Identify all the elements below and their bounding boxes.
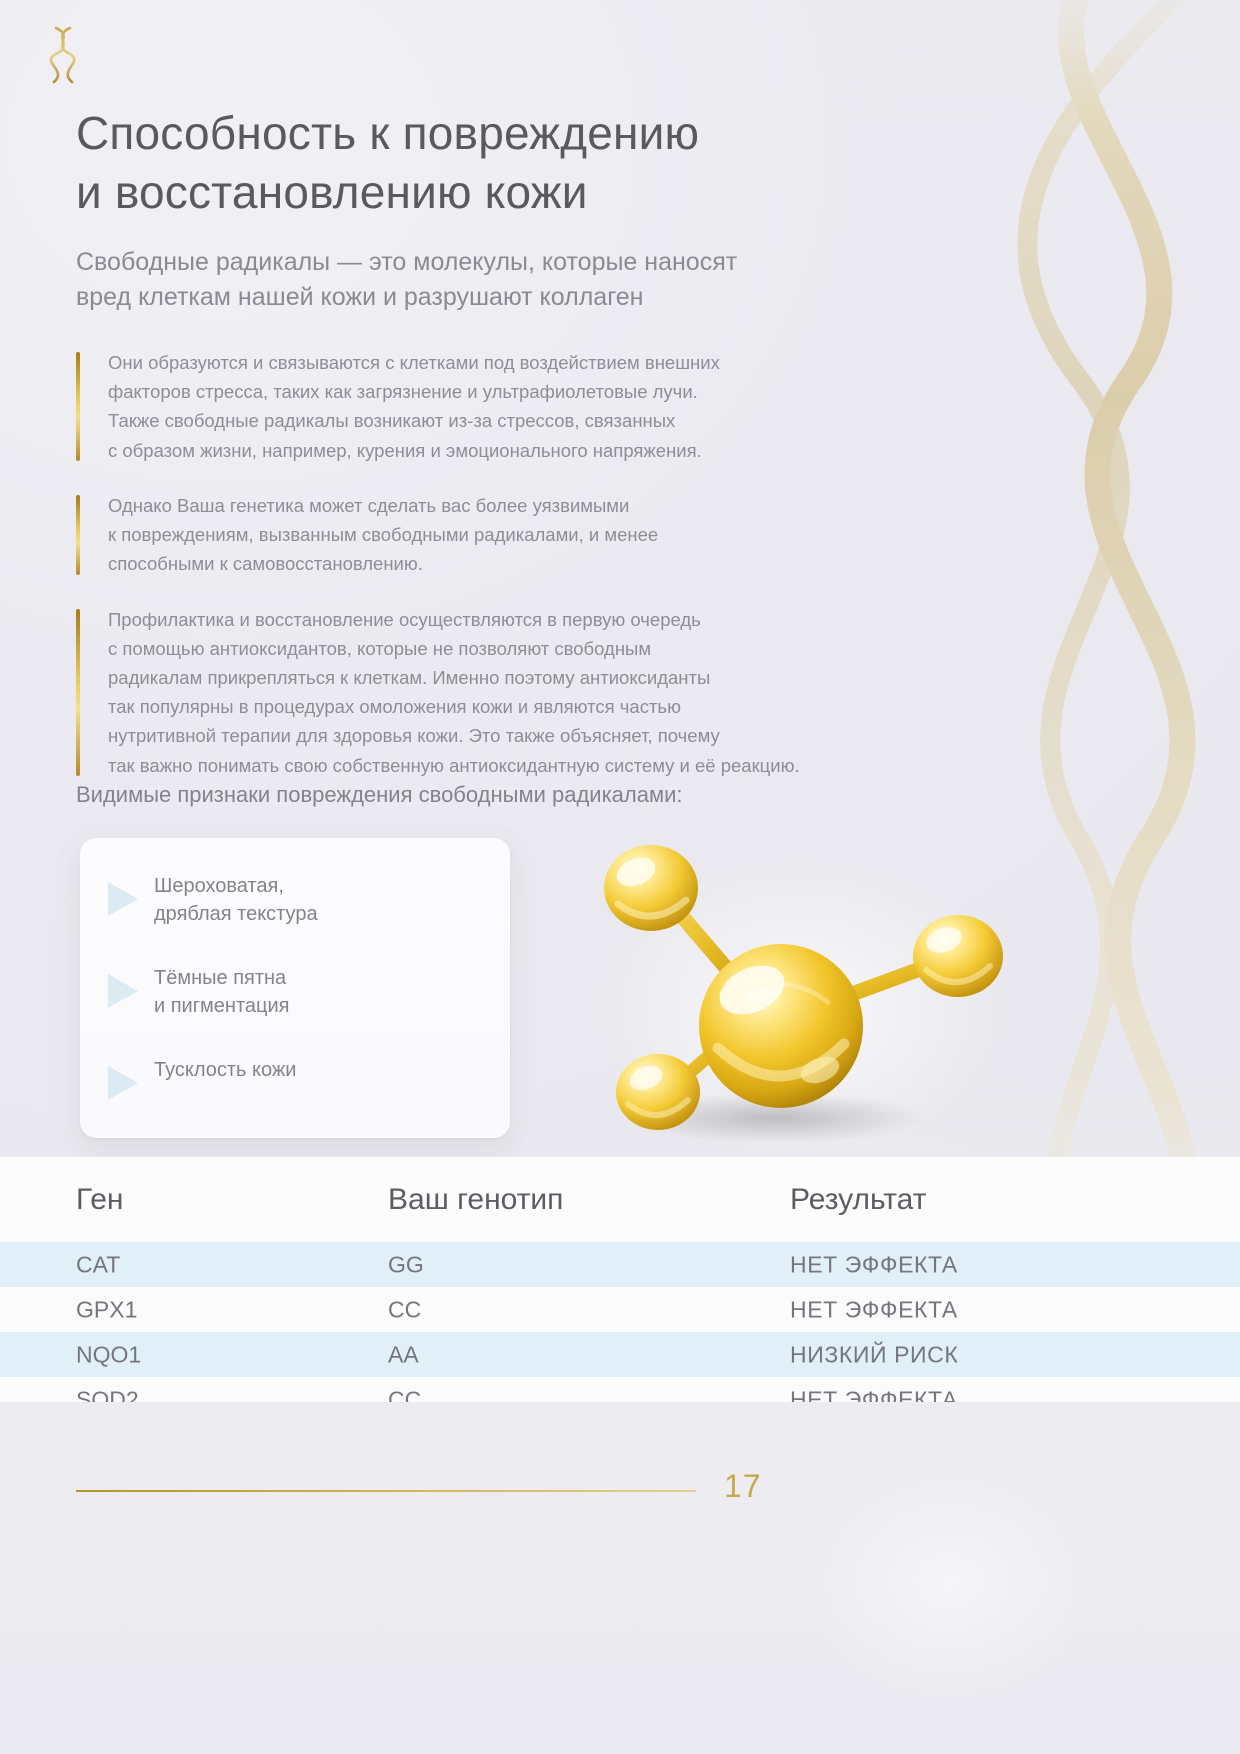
- gold-accent-bar: [76, 609, 80, 776]
- column-header-result: Результат: [790, 1183, 926, 1217]
- table-row: CAT GG НЕТ ЭФФЕКТА: [0, 1242, 1240, 1287]
- table-row: NQO1 AA НИЗКИЙ РИСК: [0, 1332, 1240, 1377]
- table-row: GPX1 CC НЕТ ЭФФЕКТА: [0, 1287, 1240, 1332]
- sign-item-label: Шероховатая, дряблая текстура: [154, 872, 318, 929]
- gold-molecule-illustration: [576, 838, 1006, 1168]
- accent-block-text: Профилактика и восстановление осуществля…: [108, 605, 946, 780]
- cell-genotype: AA: [388, 1341, 419, 1368]
- cell-result: НЕТ ЭФФЕКТА: [790, 1251, 958, 1278]
- sign-item: Тусклость кожи: [108, 1056, 296, 1100]
- gold-accent-bar: [76, 352, 80, 461]
- sign-item: Шероховатая, дряблая текстура: [108, 872, 318, 929]
- visible-signs-card: Шероховатая, дряблая текстура Тёмные пят…: [80, 838, 510, 1138]
- triangle-bullet-icon: [108, 1066, 138, 1100]
- footer-glow: [740, 1412, 1160, 1752]
- page-title-line-1: Способность к повреждению: [76, 104, 956, 163]
- cell-gene: CAT: [76, 1251, 120, 1278]
- cell-gene: GPX1: [76, 1296, 137, 1323]
- page-footer: [0, 1402, 1240, 1754]
- accent-block-text: Они образуются и связываются с клетками …: [108, 348, 946, 465]
- accent-block: Однако Ваша генетика может сделать вас б…: [76, 491, 946, 579]
- page-title-line-2: и восстановлению кожи: [76, 163, 956, 222]
- table-header-row: Ген Ваш генотип Результат: [0, 1157, 1240, 1242]
- page-title: Способность к повреждению и восстановлен…: [76, 104, 956, 222]
- accent-block: Они образуются и связываются с клетками …: [76, 348, 946, 465]
- column-header-genotype: Ваш генотип: [388, 1183, 563, 1217]
- report-page: Способность к повреждению и восстановлен…: [0, 0, 1240, 1754]
- visible-signs-heading: Видимые признаки повреждения свободными …: [76, 780, 976, 811]
- dna-helix-logo: [40, 24, 86, 86]
- genotype-results-table: Ген Ваш генотип Результат CAT GG НЕТ ЭФФ…: [0, 1157, 1240, 1422]
- accent-block-text: Однако Ваша генетика может сделать вас б…: [108, 491, 946, 579]
- accent-block: Профилактика и восстановление осуществля…: [76, 605, 946, 780]
- gold-accent-bar: [76, 495, 80, 575]
- cell-result: НИЗКИЙ РИСК: [790, 1341, 958, 1368]
- accent-blocks: Они образуются и связываются с клетками …: [76, 348, 946, 806]
- triangle-bullet-icon: [108, 882, 138, 916]
- column-header-gene: Ген: [76, 1183, 124, 1217]
- cell-genotype: CC: [388, 1296, 421, 1323]
- sign-item-label: Тёмные пятна и пигментация: [154, 964, 289, 1021]
- cell-gene: NQO1: [76, 1341, 141, 1368]
- triangle-bullet-icon: [108, 974, 138, 1008]
- footer-gold-rule: [76, 1490, 696, 1492]
- sign-item: Тёмные пятна и пигментация: [108, 964, 289, 1021]
- page-subtitle: Свободные радикалы — это молекулы, котор…: [76, 245, 946, 314]
- sign-item-label: Тусклость кожи: [154, 1056, 296, 1084]
- cell-result: НЕТ ЭФФЕКТА: [790, 1296, 958, 1323]
- cell-genotype: GG: [388, 1251, 424, 1278]
- page-number: 17: [724, 1468, 762, 1505]
